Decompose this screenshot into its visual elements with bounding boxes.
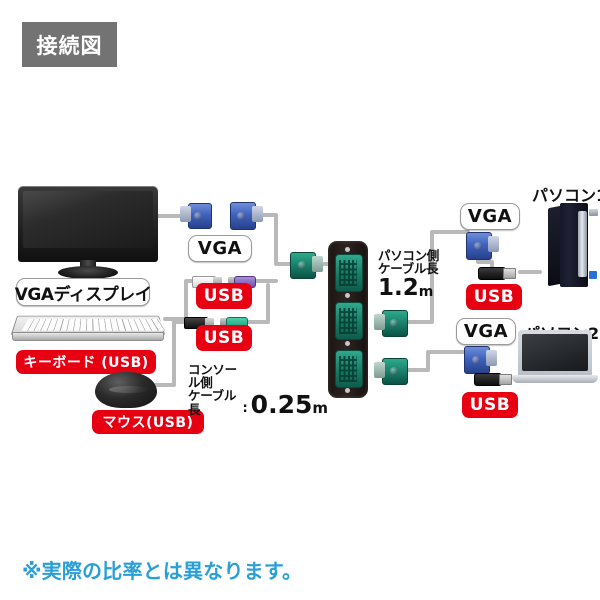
laptop-lid (518, 330, 592, 376)
vga-connector-kvm-console-green (290, 252, 322, 277)
section-title-badge: 接続図 (22, 22, 117, 67)
monitor-screen (23, 191, 153, 248)
label-vga-console: VGA (188, 235, 252, 262)
vga-connector-kvm-console-side (230, 202, 264, 228)
diagram-canvas: 接続図 (0, 0, 600, 600)
usb-mouse (95, 372, 157, 408)
badge-usb-keyboard: USB (196, 283, 252, 309)
console-cable-length-separator: : (242, 401, 247, 416)
tower-power-led (589, 271, 597, 279)
console-cable-length-line1: コンソール側 (188, 363, 239, 389)
usb-connector-pc2 (474, 372, 516, 385)
laptop-computer (512, 330, 598, 390)
console-cable-length: コンソール側 ケーブル長 : 0.25 m (188, 363, 328, 417)
keyboard-front-edge (12, 332, 164, 341)
usb-connector-pc1 (478, 266, 520, 279)
footnote-text: ※実際の比率とは異なります。 (22, 555, 302, 584)
console-cable-length-line2: ケーブル長 (188, 389, 239, 417)
label-vga-pc1: VGA (460, 203, 520, 230)
console-cable-length-unit: m (312, 399, 328, 417)
pc-cable-length-unit: m (419, 284, 434, 300)
usb-keyboard (8, 314, 166, 342)
badge-usb-mouse: USB (196, 325, 252, 351)
badge-usb-pc2: USB (462, 392, 518, 418)
console-cable-length-value: 0.25 (251, 392, 313, 417)
label-vga-display: VGAディスプレイ (16, 278, 150, 306)
badge-usb-pc1: USB (466, 284, 522, 310)
kvm-switch-body (328, 241, 368, 398)
tower-front-panel (560, 203, 588, 287)
tower-drive-bay (589, 209, 598, 216)
vga-connector-pc2-blue (464, 346, 492, 372)
pc-cable-length: パソコン側 ケーブル長 1.2 m (378, 249, 470, 300)
kvm-vga-port-2 (335, 302, 363, 340)
laptop-screen (522, 334, 588, 371)
mouse-highlight (109, 386, 149, 393)
pc-cable-length-line2: ケーブル長 (378, 262, 470, 276)
label-keyboard-usb: キーボード (USB) (16, 350, 156, 374)
kvm-vga-port-3 (335, 350, 363, 388)
pc-cable-length-value: 1.2 (378, 277, 419, 300)
keyboard-keys (21, 319, 167, 331)
desktop-pc-tower (548, 203, 592, 287)
vga-display-monitor (18, 186, 158, 278)
label-vga-pc2: VGA (456, 318, 516, 345)
vga-connector-pc1-blue (466, 232, 494, 258)
vga-connector-display-side (180, 203, 210, 227)
kvm-vga-port-1 (335, 254, 363, 292)
vga-connector-pc1-green (374, 310, 406, 335)
tower-front-strip (578, 211, 587, 277)
monitor-bezel (18, 186, 158, 262)
vga-connector-pc2-green (374, 358, 406, 383)
laptop-base (512, 375, 598, 383)
